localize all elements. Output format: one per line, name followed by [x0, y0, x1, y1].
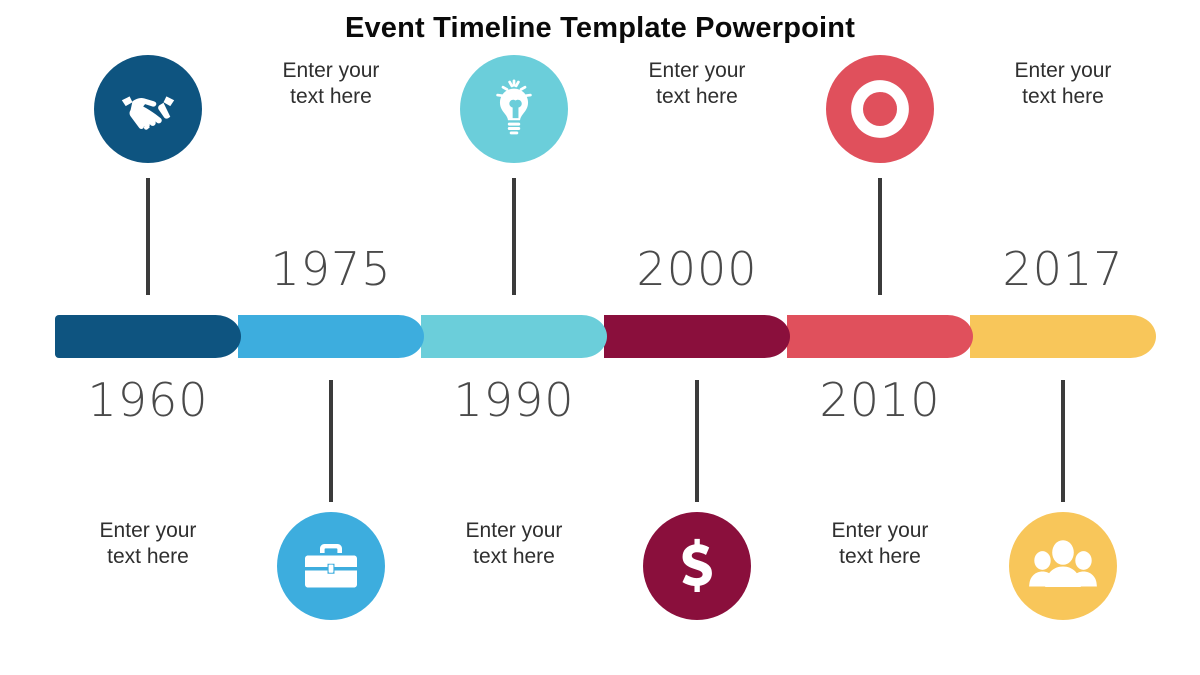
milestone-icon-badge[interactable] [277, 512, 385, 620]
timeline-segment[interactable] [970, 315, 1156, 358]
milestone-icon-badge[interactable] [1009, 512, 1117, 620]
milestone-note-text[interactable]: Enter yourtext here [231, 58, 431, 110]
note-line: text here [963, 84, 1163, 110]
note-line: text here [48, 544, 248, 570]
timeline-bar [55, 315, 1155, 358]
milestone-icon-badge[interactable] [94, 55, 202, 163]
milestone-year-label: 2017 [953, 243, 1173, 295]
briefcase-icon [299, 534, 363, 598]
timeline-connector-line [512, 178, 516, 295]
dollar-icon [671, 535, 723, 597]
milestone-year-label: 2010 [770, 374, 990, 426]
note-line: Enter your [780, 518, 980, 544]
milestone-note-text[interactable]: Enter yourtext here [780, 518, 980, 570]
milestone-year-label: 1990 [404, 374, 624, 426]
note-line: Enter your [231, 58, 431, 84]
milestone-icon-badge[interactable] [826, 55, 934, 163]
timeline-segment[interactable] [421, 315, 607, 358]
milestone-year-label: 2000 [587, 243, 807, 295]
milestone-note-text[interactable]: Enter yourtext here [597, 58, 797, 110]
timeline-segment[interactable] [787, 315, 973, 358]
handshake-icon [117, 78, 179, 140]
timeline-connector-line [878, 178, 882, 295]
milestone-year-label: 1960 [38, 374, 258, 426]
timeline-segment[interactable] [55, 315, 241, 358]
note-line: text here [597, 84, 797, 110]
timeline-connector-line [146, 178, 150, 295]
timeline-segment[interactable] [604, 315, 790, 358]
timeline-segment[interactable] [238, 315, 424, 358]
milestone-icon-badge[interactable] [643, 512, 751, 620]
milestone-note-text[interactable]: Enter yourtext here [414, 518, 614, 570]
milestone-year-label: 1975 [221, 243, 441, 295]
timeline-slide: Event Timeline Template Powerpoint 1960E… [0, 0, 1200, 675]
note-line: Enter your [963, 58, 1163, 84]
page-title: Event Timeline Template Powerpoint [0, 8, 1200, 48]
milestone-note-text[interactable]: Enter yourtext here [963, 58, 1163, 110]
note-line: Enter your [414, 518, 614, 544]
timeline-connector-line [695, 380, 699, 502]
milestone-note-text[interactable]: Enter yourtext here [48, 518, 248, 570]
milestone-icon-badge[interactable] [460, 55, 568, 163]
note-line: Enter your [48, 518, 248, 544]
note-line: text here [231, 84, 431, 110]
timeline-connector-line [329, 380, 333, 502]
note-line: Enter your [597, 58, 797, 84]
timeline-connector-line [1061, 380, 1065, 502]
lightbulb-icon [483, 78, 545, 140]
pie-chart-icon [847, 76, 913, 142]
note-line: text here [414, 544, 614, 570]
note-line: text here [780, 544, 980, 570]
people-group-icon [1029, 538, 1097, 594]
